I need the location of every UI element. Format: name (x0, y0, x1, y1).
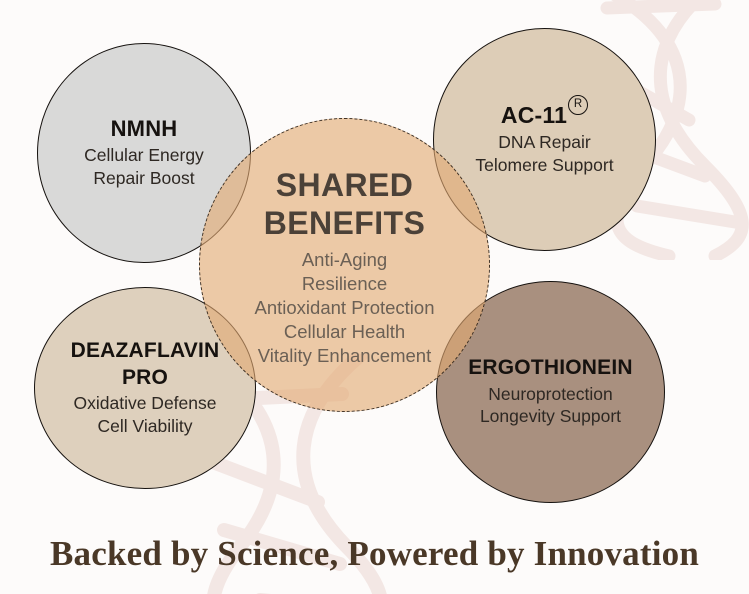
deazaflavin-benefit-2: Cell Viability (98, 415, 193, 437)
shared-benefits-list: Anti-Aging Resilience Antioxidant Protec… (255, 248, 435, 368)
registered-trademark-icon: R (568, 95, 588, 115)
shared-benefit-item: Antioxidant Protection (255, 296, 435, 320)
shared-benefit-item: Anti-Aging (255, 248, 435, 272)
infographic-canvas: NMNH Cellular Energy Repair Boost AC-11 … (0, 0, 749, 594)
ergothionein-title: ERGOTHIONEIN (468, 356, 633, 380)
nmnh-benefit-2: Repair Boost (93, 167, 194, 189)
nmnh-title: NMNH (111, 117, 178, 142)
shared-benefit-item: Cellular Health (255, 320, 435, 344)
deazaflavin-title-line1: DEAZAFLAVIN (71, 339, 220, 364)
deazaflavin-benefit-1: Oxidative Defense (74, 392, 217, 414)
ac11-benefit-2: Telomere Support (475, 154, 613, 176)
tagline: Backed by Science, Powered by Innovation (0, 534, 749, 574)
shared-benefits-title: SHARED BENEFITS (264, 166, 425, 243)
circle-shared-benefits[interactable]: SHARED BENEFITS Anti-Aging Resilience An… (199, 118, 490, 412)
ergothionein-benefit-2: Longevity Support (480, 405, 621, 427)
shared-title-line1: SHARED (264, 166, 425, 204)
shared-benefit-item: Resilience (255, 272, 435, 296)
ac11-benefit-1: DNA Repair (498, 131, 590, 153)
nmnh-benefit-1: Cellular Energy (84, 144, 204, 166)
ac11-title-row: AC-11 R (501, 103, 588, 129)
ac11-title: AC-11 (501, 103, 567, 129)
shared-title-line2: BENEFITS (264, 204, 425, 242)
deazaflavin-title-line2: PRO (122, 366, 168, 391)
ergothionein-benefit-1: Neuroprotection (488, 383, 613, 405)
shared-benefit-item: Vitality Enhancement (255, 344, 435, 368)
